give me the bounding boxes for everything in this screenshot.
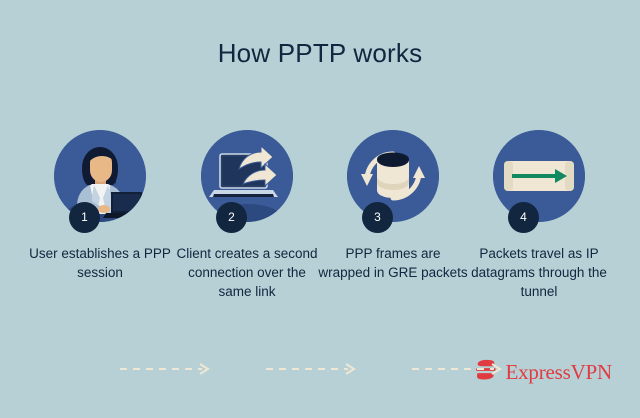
person-at-laptop-icon	[54, 130, 146, 222]
step-4: 4 Packets travel as IP datagrams through…	[464, 130, 614, 345]
page-title: How PPTP works	[0, 38, 640, 69]
step-2-icon-wrap: 2	[201, 130, 293, 222]
step-1-icon-wrap: 1	[54, 130, 146, 222]
infographic-canvas: How PPTP works	[0, 0, 640, 418]
dashed-arrow-1-to-2	[120, 362, 216, 376]
step-3-icon-wrap: 3	[347, 130, 439, 222]
step-1-badge: 1	[69, 202, 100, 233]
step-2-badge: 2	[216, 202, 247, 233]
step-1: 1 User establishes a PPP session	[25, 130, 175, 345]
step-3-badge: 3	[362, 202, 393, 233]
dashed-arrow-2-to-3	[266, 362, 362, 376]
step-4-caption: Packets travel as IP datagrams through t…	[464, 244, 614, 301]
tunnel-arrow-icon	[493, 130, 585, 222]
step-3-caption: PPP frames are wrapped in GRE packets	[318, 244, 468, 282]
step-2-caption: Client creates a second connection over …	[172, 244, 322, 301]
step-4-icon-wrap: 4	[493, 130, 585, 222]
dashed-arrow-3-to-4	[412, 362, 508, 376]
step-1-caption: User establishes a PPP session	[25, 244, 175, 282]
expressvpn-logo-text: ExpressVPN	[506, 360, 613, 385]
step-2: 2 Client creates a second connection ove…	[172, 130, 322, 345]
steps-row: 1 User establishes a PPP session	[0, 130, 640, 345]
database-refresh-icon	[347, 130, 439, 222]
laptop-with-share-arrows-icon	[201, 130, 293, 222]
step-4-badge: 4	[508, 202, 539, 233]
step-3: 3 PPP frames are wrapped in GRE packets	[318, 130, 468, 345]
